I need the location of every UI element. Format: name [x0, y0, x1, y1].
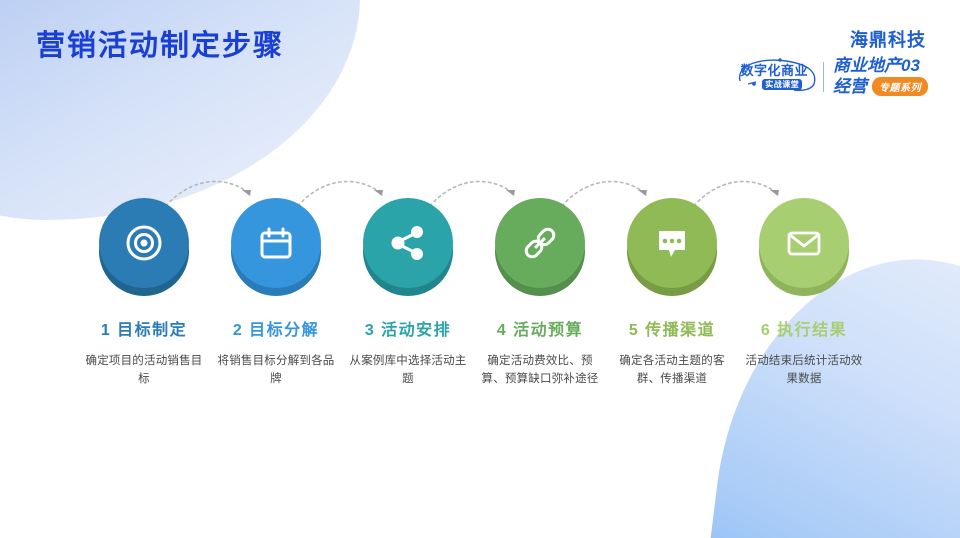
course-badge: 数字化商业 实战课堂 [734, 61, 814, 92]
brand-divider [823, 62, 824, 92]
step-2-circle-wrap [231, 198, 321, 296]
step-1-label: 1 目标制定 [101, 316, 187, 340]
page-title: 营销活动制定步骤 [36, 22, 284, 64]
step-2-desc: 将销售目标分解到各品牌 [217, 352, 335, 388]
step-6-circle[interactable] [759, 198, 849, 288]
step-3-desc: 从案例库中选择活动主题 [349, 352, 467, 388]
envelope-icon [782, 221, 826, 265]
step-4-label: 4 活动预算 [497, 316, 583, 340]
step-item-4[interactable]: 4 活动预算 确定活动费效比、预算、预算缺口弥补途径 [474, 168, 606, 388]
brand-lower-row: 数字化商业 实战课堂 商业地产03 经营 专题系列 [734, 57, 928, 96]
step-6-label: 6 执行结果 [761, 316, 847, 340]
step-5-desc: 确定各活动主题的客群、传播渠道 [613, 352, 731, 388]
brand-logo-block: 海鼎科技 数字化商业 实战课堂 商业地产03 经营 专题系列 [734, 26, 928, 96]
step-2-label: 2 目标分解 [233, 316, 319, 340]
course-badge-main: 数字化商业 [740, 64, 808, 78]
step-1-circle-wrap [99, 198, 189, 296]
share-icon [387, 222, 429, 264]
step-2-circle[interactable] [231, 198, 321, 288]
calendar-icon [256, 223, 296, 263]
step-1-circle[interactable] [99, 198, 189, 288]
series-badge-pill: 专题系列 [872, 77, 928, 96]
step-item-6[interactable]: 6 执行结果 活动结束后统计活动效果数据 [738, 168, 870, 388]
series-badge-line2-row: 经营 专题系列 [833, 77, 928, 96]
step-4-desc: 确定活动费效比、预算、预算缺口弥补途径 [481, 352, 599, 388]
step-item-5[interactable]: 5 传播渠道 确定各活动主题的客群、传播渠道 [606, 168, 738, 388]
step-5-circle-wrap [627, 198, 717, 296]
step-5-circle[interactable] [627, 198, 717, 288]
target-icon [121, 220, 167, 266]
series-badge-line1: 商业地产03 [833, 57, 920, 75]
step-6-desc: 活动结束后统计活动效果数据 [745, 352, 863, 388]
step-item-3[interactable]: 3 活动安排 从案例库中选择活动主题 [342, 168, 474, 388]
step-4-circle-wrap [495, 198, 585, 296]
series-badge-line2: 经营 [833, 78, 867, 96]
step-item-1[interactable]: 1 目标制定 确定项目的活动销售目标 [78, 168, 210, 388]
step-1-desc: 确定项目的活动销售目标 [85, 352, 203, 388]
step-6-circle-wrap [759, 198, 849, 296]
chat-bubble-icon [651, 222, 693, 264]
brand-name: 海鼎科技 [850, 26, 926, 52]
step-3-circle[interactable] [363, 198, 453, 288]
step-item-2[interactable]: 2 目标分解 将销售目标分解到各品牌 [210, 168, 342, 388]
link-icon [518, 221, 562, 265]
step-4-circle[interactable] [495, 198, 585, 288]
step-3-circle-wrap [363, 198, 453, 296]
step-5-label: 5 传播渠道 [629, 316, 715, 340]
step-list: 1 目标制定 确定项目的活动销售目标 2 目标分解 将销售目标分解到各品牌 [0, 168, 960, 388]
course-badge-sub: 实战课堂 [762, 79, 802, 90]
step-3-label: 3 活动安排 [365, 316, 451, 340]
series-badge: 商业地产03 经营 专题系列 [833, 57, 928, 96]
slide-canvas: 营销活动制定步骤 海鼎科技 数字化商业 实战课堂 商业地产03 经营 专题系列 [0, 0, 960, 538]
